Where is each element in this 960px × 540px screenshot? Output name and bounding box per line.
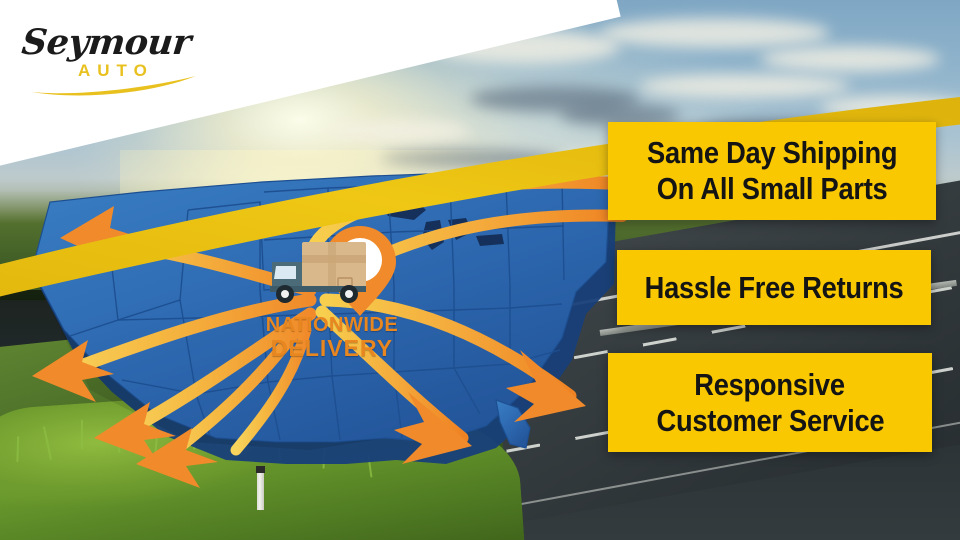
message-line: Responsive (695, 367, 845, 403)
seymour-auto-logo[interactable]: Seymour AUTO (22, 14, 202, 92)
message-line: Hassle Free Returns (645, 270, 904, 306)
message-box-responsive-customer-service[interactable]: Responsive Customer Service (608, 353, 932, 452)
logo-wordmark: Seymour (20, 22, 193, 63)
nationwide-delivery-group: NATIONWIDE DELIVERY (252, 222, 412, 362)
nationwide-line-2: DELIVERY (252, 337, 412, 360)
logo-swoosh-icon (30, 74, 198, 96)
message-line: Same Day Shipping (647, 135, 897, 171)
nationwide-line-1: NATIONWIDE (252, 314, 412, 337)
delivery-truck-icon (270, 242, 366, 303)
nationwide-delivery-label: NATIONWIDE DELIVERY (252, 314, 412, 360)
message-box-hassle-free-returns[interactable]: Hassle Free Returns (617, 250, 931, 325)
message-line: On All Small Parts (657, 171, 888, 207)
promotional-banner: NATIONWIDE DELIVERY Seymour AUTO Same Da… (0, 0, 960, 540)
delivery-icon-cluster (252, 222, 412, 322)
lake-erie (476, 234, 504, 246)
message-line: Customer Service (656, 403, 884, 439)
message-box-same-day-shipping[interactable]: Same Day Shipping On All Small Parts (608, 122, 936, 220)
